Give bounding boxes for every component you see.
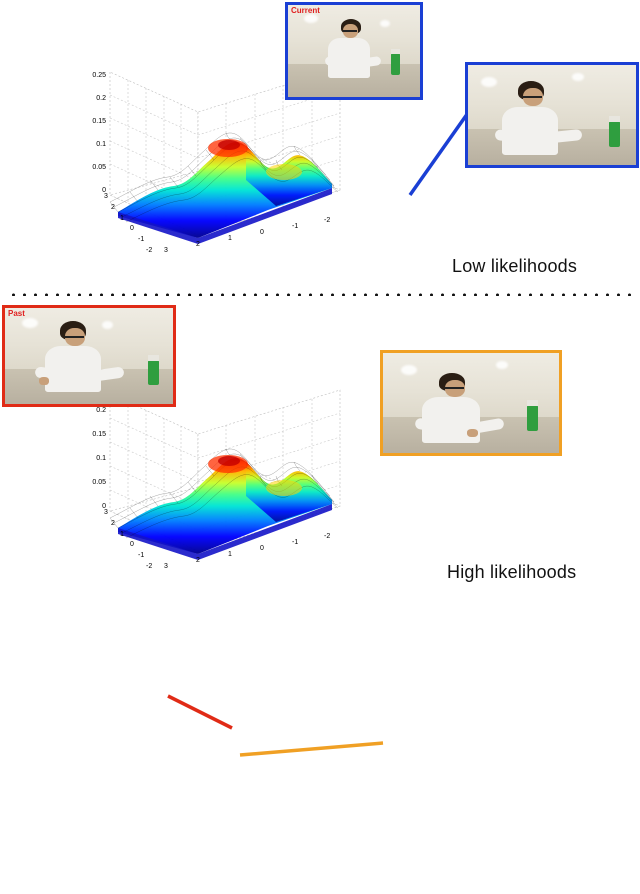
svg-text:0: 0 bbox=[130, 225, 134, 232]
svg-text:0.25: 0.25 bbox=[92, 72, 106, 79]
photo-scene bbox=[383, 353, 559, 453]
svg-text:0.05: 0.05 bbox=[92, 479, 106, 486]
svg-text:1: 1 bbox=[120, 531, 124, 538]
svg-text:-1: -1 bbox=[138, 236, 144, 243]
photo-scene bbox=[288, 5, 420, 97]
photo-tag: Past bbox=[8, 309, 25, 318]
svg-text:1: 1 bbox=[228, 235, 232, 242]
svg-text:2: 2 bbox=[111, 520, 115, 527]
svg-text:2: 2 bbox=[196, 241, 200, 248]
svg-text:0.2: 0.2 bbox=[96, 407, 106, 414]
svg-text:0.1: 0.1 bbox=[96, 455, 106, 462]
svg-text:0.15: 0.15 bbox=[92, 118, 106, 125]
svg-text:2: 2 bbox=[111, 204, 115, 211]
svg-text:3: 3 bbox=[104, 193, 108, 200]
svg-text:3: 3 bbox=[164, 247, 168, 254]
surface-plot-bottom-svg: 0.2 0.15 0.1 0.05 0 bbox=[78, 388, 378, 588]
svg-text:1: 1 bbox=[228, 551, 232, 558]
photo-tag: Current bbox=[291, 6, 320, 15]
svg-text:-2: -2 bbox=[324, 217, 330, 224]
svg-text:0: 0 bbox=[130, 541, 134, 548]
svg-text:0.05: 0.05 bbox=[92, 164, 106, 171]
photo-scene bbox=[468, 65, 636, 165]
surface-plot-bottom: 0.2 0.15 0.1 0.05 0 bbox=[78, 388, 378, 588]
svg-text:0: 0 bbox=[260, 545, 264, 552]
svg-text:3: 3 bbox=[104, 509, 108, 516]
z-axis-ticks-bottom: 0.2 0.15 0.1 0.05 0 bbox=[92, 407, 106, 510]
svg-text:0: 0 bbox=[260, 229, 264, 236]
svg-text:-1: -1 bbox=[138, 552, 144, 559]
svg-text:-1: -1 bbox=[292, 539, 298, 546]
svg-text:0.2: 0.2 bbox=[96, 95, 106, 102]
photo-low-likelihood-frame bbox=[465, 62, 639, 168]
caption-high-likelihoods: High likelihoods bbox=[447, 562, 576, 583]
svg-text:-2: -2 bbox=[146, 563, 152, 570]
svg-text:1: 1 bbox=[120, 215, 124, 222]
dotted-divider bbox=[8, 290, 632, 296]
panel-high-likelihoods: 0.2 0.15 0.1 0.05 0 bbox=[0, 300, 640, 594]
z-axis-ticks-top: 0.25 0.2 0.15 0.1 0.05 0 bbox=[92, 72, 106, 194]
svg-text:0.15: 0.15 bbox=[92, 431, 106, 438]
svg-text:0.1: 0.1 bbox=[96, 141, 106, 148]
photo-past-frame: Past bbox=[2, 305, 176, 407]
svg-text:-1: -1 bbox=[292, 223, 298, 230]
svg-text:3: 3 bbox=[164, 563, 168, 570]
photo-current-frame: Current bbox=[285, 2, 423, 100]
panel-low-likelihoods: 0.25 0.2 0.15 0.1 0.05 0 bbox=[0, 0, 640, 290]
photo-scene bbox=[5, 308, 173, 404]
svg-text:-2: -2 bbox=[146, 247, 152, 254]
svg-text:2: 2 bbox=[196, 557, 200, 564]
photo-high-likelihood-frame bbox=[380, 350, 562, 456]
caption-low-likelihoods: Low likelihoods bbox=[452, 256, 577, 277]
svg-text:-2: -2 bbox=[324, 533, 330, 540]
